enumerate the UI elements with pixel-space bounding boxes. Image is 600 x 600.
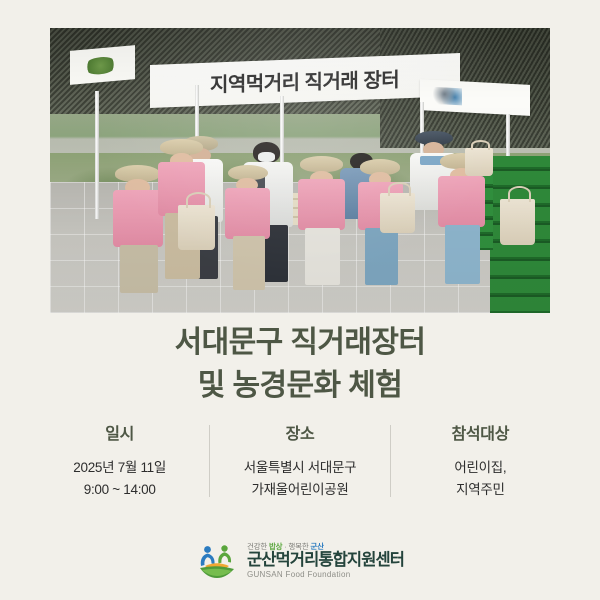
- photo-scene: 지역먹거리 직거래 장터: [50, 28, 550, 313]
- detail-value-audience-line-1: 어린이집,: [397, 457, 564, 479]
- gunsan-food-foundation-logo-icon: [196, 540, 238, 582]
- detail-value-audience-line-2: 지역주민: [397, 479, 564, 501]
- canvas-tote-bag: [465, 148, 493, 177]
- logo-tagline-part-3: · 행복한: [284, 542, 308, 551]
- event-poster: 지역먹거리 직거래 장터: [0, 0, 600, 600]
- detail-heading-location: 장소: [216, 420, 383, 444]
- child-pink-vest: [113, 190, 163, 247]
- detail-value-location-line-1: 서울특별시 서대문구: [216, 457, 383, 479]
- child-pink-vest: [225, 188, 270, 239]
- child-legs: [365, 228, 398, 285]
- detail-column-location: 장소 서울특별시 서대문구 가재울어린이공원: [210, 420, 389, 501]
- detail-value-time: 9:00 ~ 14:00: [36, 479, 203, 501]
- organization-name: 군산먹거리통합지원센터: [247, 552, 404, 569]
- child-pink-vest: [298, 179, 346, 230]
- poster-title: 서대문구 직거래장터 및 농경문화 체험: [0, 322, 600, 407]
- child-legs: [445, 225, 480, 285]
- logo-tagline-part-4: 군산: [310, 542, 323, 551]
- event-details: 일시 2025년 7월 11일 9:00 ~ 14:00 장소 서울특별시 서대…: [30, 420, 570, 501]
- child-pink-vest: [438, 176, 486, 227]
- poster-title-line-2: 및 농경문화 체험: [0, 365, 600, 408]
- logo-tagline: 건강한 밥상 · 행복한 군산: [247, 543, 404, 551]
- detail-heading-audience: 참석대상: [397, 420, 564, 444]
- child-legs: [305, 228, 340, 285]
- detail-column-datetime: 일시 2025년 7월 11일 9:00 ~ 14:00: [30, 420, 209, 501]
- child-legs: [233, 236, 266, 290]
- detail-value-location-line-2: 가재울어린이공원: [216, 479, 383, 501]
- canvas-tote-bag: [178, 205, 216, 251]
- organization-name-english: GUNSAN Food Foundation: [247, 571, 404, 579]
- detail-column-audience: 참석대상 어린이집, 지역주민: [391, 420, 570, 501]
- canvas-tote-bag: [500, 199, 535, 245]
- face-mask: [258, 152, 275, 162]
- poster-title-line-1: 서대문구 직거래장터: [0, 322, 600, 365]
- logo-tagline-part-1: 건강한: [247, 542, 267, 551]
- child-legs: [120, 245, 158, 293]
- organization-logo: 건강한 밥상 · 행복한 군산 군산먹거리통합지원센터 GUNSAN Food …: [0, 540, 600, 582]
- logo-text-block: 건강한 밥상 · 행복한 군산 군산먹거리통합지원센터 GUNSAN Food …: [247, 543, 404, 580]
- child-hat: [300, 156, 343, 172]
- market-banner-text: 지역먹거리 직거래 장터: [210, 64, 399, 98]
- detail-heading-datetime: 일시: [36, 420, 203, 444]
- detail-value-date: 2025년 7월 11일: [36, 457, 203, 479]
- logo-tagline-part-2: 밥상: [269, 542, 282, 551]
- side-banner: [420, 79, 530, 116]
- banner-sponsor-logo: [70, 45, 135, 85]
- event-photo: 지역먹거리 직거래 장터: [50, 28, 550, 313]
- tent-pole: [95, 91, 99, 219]
- canvas-tote-bag: [380, 193, 415, 233]
